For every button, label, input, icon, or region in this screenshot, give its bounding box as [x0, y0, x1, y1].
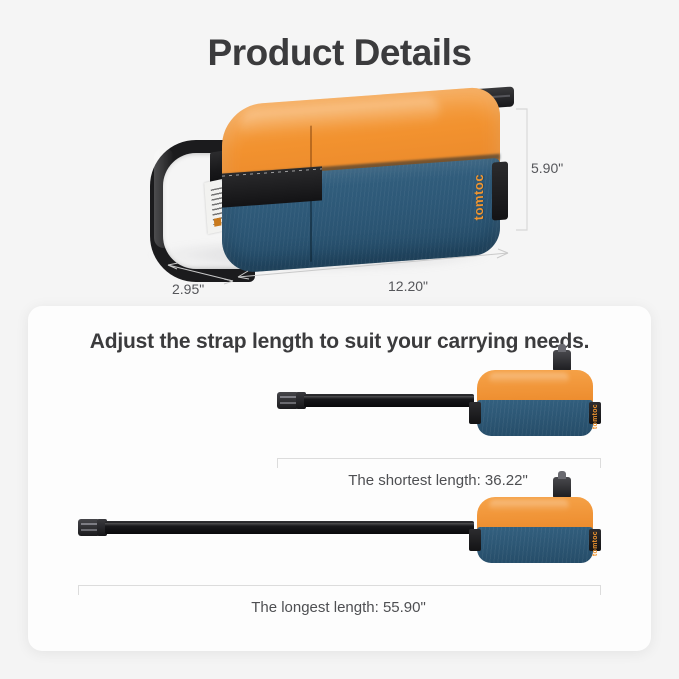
product-image-mini-bag-short: tomtoc — [465, 362, 605, 438]
dimension-height-label: 5.90" — [531, 160, 563, 176]
mini-brand-logo-short: tomtoc — [592, 404, 599, 429]
product-details-section: Product Details — [0, 0, 679, 310]
measure-bracket-longest — [78, 585, 601, 595]
strap-band-long — [105, 521, 474, 534]
dimension-guides — [0, 0, 679, 310]
mini-bag-blue-panel — [477, 527, 593, 563]
mini-bag-orange-panel — [477, 497, 593, 531]
mini-buckle-long — [553, 477, 571, 499]
mini-bag-orange-panel — [477, 370, 593, 404]
mini-clip-left-long — [469, 529, 481, 551]
product-image-mini-bag-long: tomtoc — [465, 489, 605, 565]
strap-band-short — [304, 394, 474, 407]
mini-brand-logo-long: tomtoc — [592, 531, 599, 556]
mini-buckle-short — [553, 350, 571, 372]
dimension-depth-label: 2.95" — [172, 281, 204, 297]
mini-clip-left-short — [469, 402, 481, 424]
mini-bag-blue-panel — [477, 400, 593, 436]
strap-length-card: Adjust the strap length to suit your car… — [28, 306, 651, 651]
dimension-width-label: 12.20" — [388, 278, 428, 294]
measure-caption-longest: The longest length: 55.90" — [78, 599, 599, 616]
measure-bracket-shortest — [277, 458, 601, 468]
measure-caption-shortest: The shortest length: 36.22" — [277, 472, 599, 489]
